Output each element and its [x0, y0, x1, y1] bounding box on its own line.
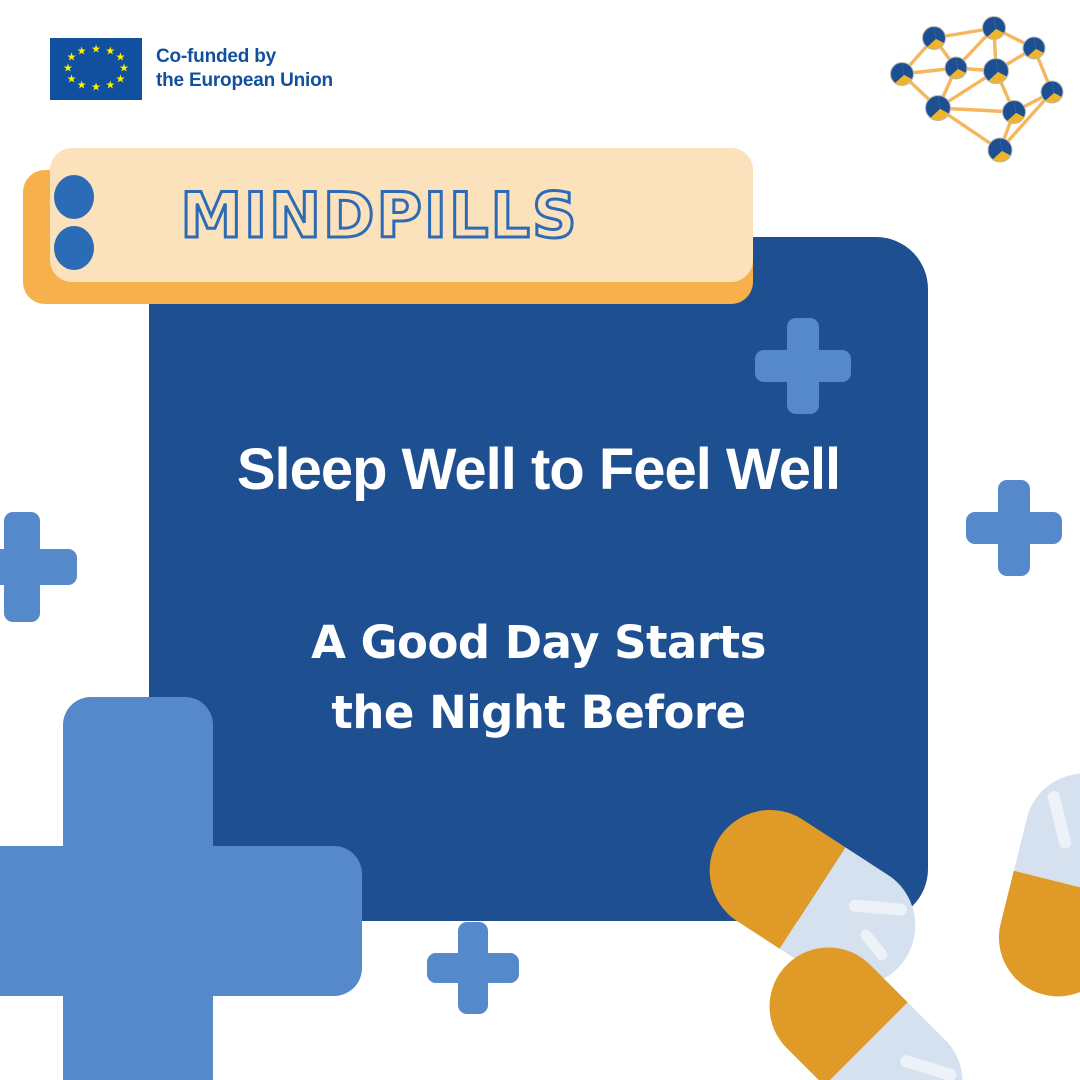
- cross-bar-horizontal: [0, 846, 362, 995]
- headline: Sleep Well to Feel Well: [149, 436, 928, 503]
- eu-funding-label: Co-funded by the European Union: [156, 45, 333, 94]
- cross-bar-horizontal: [755, 350, 851, 382]
- cross-bar-horizontal: [427, 953, 519, 984]
- banner-dot-bottom: [54, 226, 94, 270]
- cross-decoration-large: [0, 697, 362, 1080]
- capsule-pill-icon: [986, 761, 1080, 1009]
- cross-decoration-top-right: [755, 318, 851, 414]
- brand-title: MINDPILLS: [180, 179, 578, 252]
- brand-banner: MINDPILLS: [23, 148, 753, 304]
- cross-decoration-right: [966, 480, 1062, 576]
- brain-network-icon: [886, 8, 1066, 173]
- poster-canvas: ★ ★ ★ ★ ★ ★ ★ ★ ★ ★ ★ ★ Co-funded by the…: [0, 0, 1080, 1080]
- cross-bar-horizontal: [966, 512, 1062, 544]
- banner-face: MINDPILLS: [50, 148, 753, 282]
- capsule-bottom-half: [986, 871, 1080, 1009]
- eu-flag-icon: ★ ★ ★ ★ ★ ★ ★ ★ ★ ★ ★ ★: [50, 38, 142, 100]
- cross-decoration-bottom-center: [427, 922, 519, 1014]
- cross-decoration-left: [0, 512, 77, 622]
- banner-dot-top: [54, 175, 94, 219]
- eu-funding-logo: ★ ★ ★ ★ ★ ★ ★ ★ ★ ★ ★ ★ Co-funded by the…: [50, 38, 333, 100]
- cross-bar-horizontal: [0, 549, 77, 586]
